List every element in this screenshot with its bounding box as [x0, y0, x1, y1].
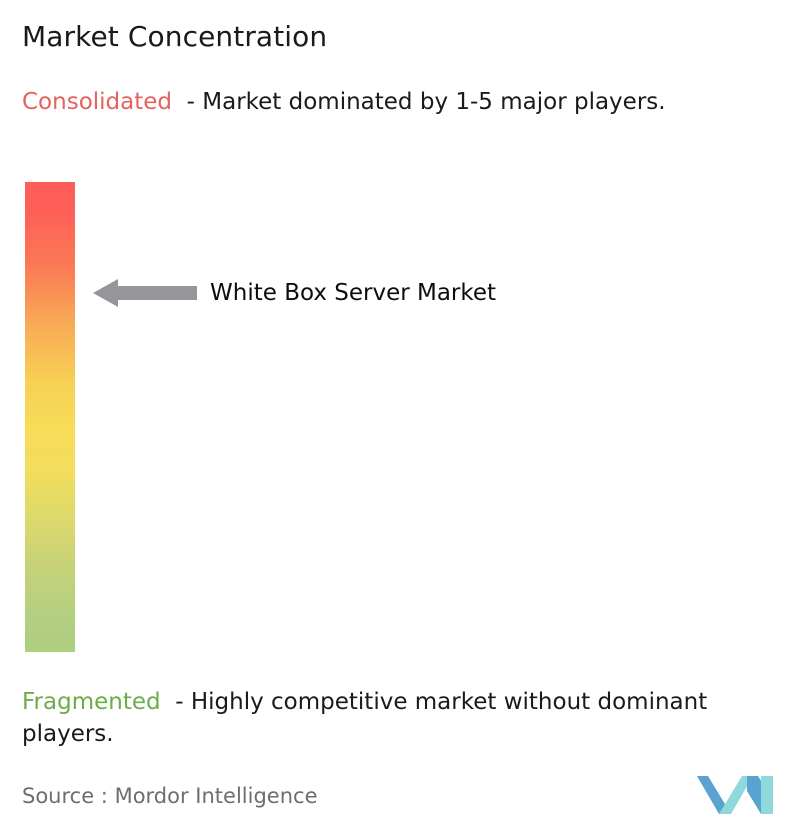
source-attribution: Source : Mordor Intelligence — [22, 782, 317, 810]
left-arrow-icon — [93, 276, 197, 310]
legend-consolidated-description: - Market dominated by 1-5 major players. — [187, 89, 666, 115]
page-title: Market Concentration — [22, 20, 327, 54]
legend-fragmented: Fragmented - Highly competitive market w… — [22, 686, 787, 750]
legend-consolidated-term: Consolidated — [22, 89, 172, 115]
annotation-label: White Box Server Market — [210, 277, 496, 309]
legend-fragmented-term: Fragmented — [22, 689, 161, 715]
gradient-scale-bar — [25, 182, 75, 652]
mordor-intelligence-logo — [697, 770, 773, 818]
legend-consolidated: Consolidated - Market dominated by 1-5 m… — [22, 86, 762, 119]
chart-canvas: Market Concentration Consolidated - Mark… — [0, 0, 796, 834]
source-label: Source : — [22, 784, 108, 808]
source-value: Mordor Intelligence — [115, 784, 318, 808]
